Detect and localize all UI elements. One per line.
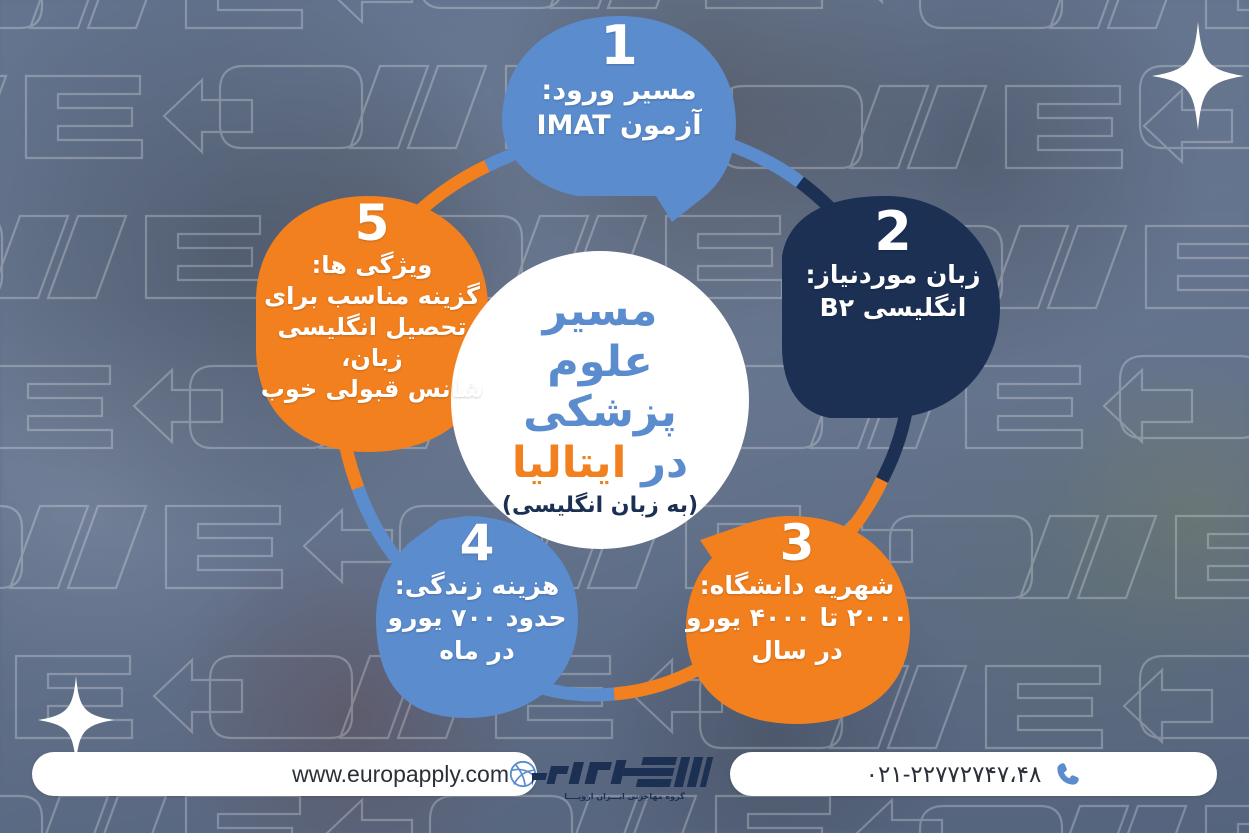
logo-icon — [532, 754, 718, 790]
node-4-line-2: حدود ۷۰۰ یورو — [387, 603, 566, 632]
company-logo: گروه مهاجرتی ایـــران اروپــــا — [527, 751, 723, 803]
center-title: مسیر علوم پزشکی در ایتالیا (به زبان انگل… — [466, 286, 734, 519]
center-title-subtitle: (به زبان انگلیسی) — [466, 493, 734, 519]
node-1-label[interactable]: 1 مسیر ورود: آزمون IMAT — [508, 20, 730, 143]
node-3-line-2: ۲۰۰۰ تا ۴۰۰۰ یورو — [686, 603, 908, 632]
website-pill[interactable]: www.europapply.com — [32, 752, 537, 796]
node-4-label[interactable]: 4 هزینه زندگی: حدود ۷۰۰ یورو در ماه — [376, 520, 578, 667]
center-title-word-italy: ایتالیا — [512, 438, 626, 488]
logo-tagline: گروه مهاجرتی ایـــران اروپــــا — [564, 792, 685, 801]
node-2-line-1: زبان موردنیاز: — [806, 260, 981, 289]
node-5-line-2: گزینه مناسب برای — [264, 282, 480, 310]
node-2-number: 2 — [790, 206, 996, 257]
center-title-line-1: مسیر — [466, 286, 734, 337]
node-1-line-2: آزمون IMAT — [536, 110, 701, 141]
node-3-label[interactable]: 3 شهریه دانشگاه: ۲۰۰۰ تا ۴۰۰۰ یورو در سا… — [686, 520, 908, 667]
footer-bar: www.europapply.com — [0, 735, 1249, 833]
center-title-word-in: در — [641, 438, 688, 488]
phone-icon — [1055, 761, 1081, 787]
infographic-canvas: 1 مسیر ورود: آزمون IMAT 2 زبان موردنیاز:… — [0, 0, 1249, 833]
node-5-label[interactable]: 5 ویژگی ها: گزینه مناسب برای تحصیل انگلی… — [258, 200, 486, 405]
node-5-line-3: تحصیل انگلیسی زبان، — [277, 313, 466, 372]
connector-3-4-orange — [614, 668, 700, 694]
phone-pill[interactable]: ۰۲۱-۲۲۷۷۲۷۴۷،۴۸ — [730, 752, 1217, 796]
website-url[interactable]: www.europapply.com — [292, 761, 509, 788]
node-4-line-3: در ماه — [439, 636, 515, 665]
node-1-line-1: مسیر ورود: — [541, 75, 696, 106]
node-4-number: 4 — [376, 520, 578, 568]
phone-number[interactable]: ۰۲۱-۲۲۷۷۲۷۴۷،۴۸ — [866, 761, 1042, 788]
node-5-line-1: ویژگی ها: — [312, 251, 433, 279]
center-title-line-2: علوم پزشکی — [466, 337, 734, 438]
node-5-number: 5 — [258, 200, 486, 248]
node-1-number: 1 — [508, 20, 730, 71]
node-2-label[interactable]: 2 زبان موردنیاز: انگلیسی B۲ — [790, 206, 996, 324]
node-3-line-1: شهریه دانشگاه: — [700, 571, 895, 600]
node-3-line-3: در سال — [751, 636, 843, 665]
node-2-line-2: انگلیسی B۲ — [820, 293, 967, 322]
node-3-number: 3 — [686, 520, 908, 568]
center-title-line-3: در ایتالیا — [466, 438, 734, 489]
node-5-line-4: شانس قبولی خوب — [261, 375, 484, 403]
node-4-line-1: هزینه زندگی: — [395, 571, 559, 600]
